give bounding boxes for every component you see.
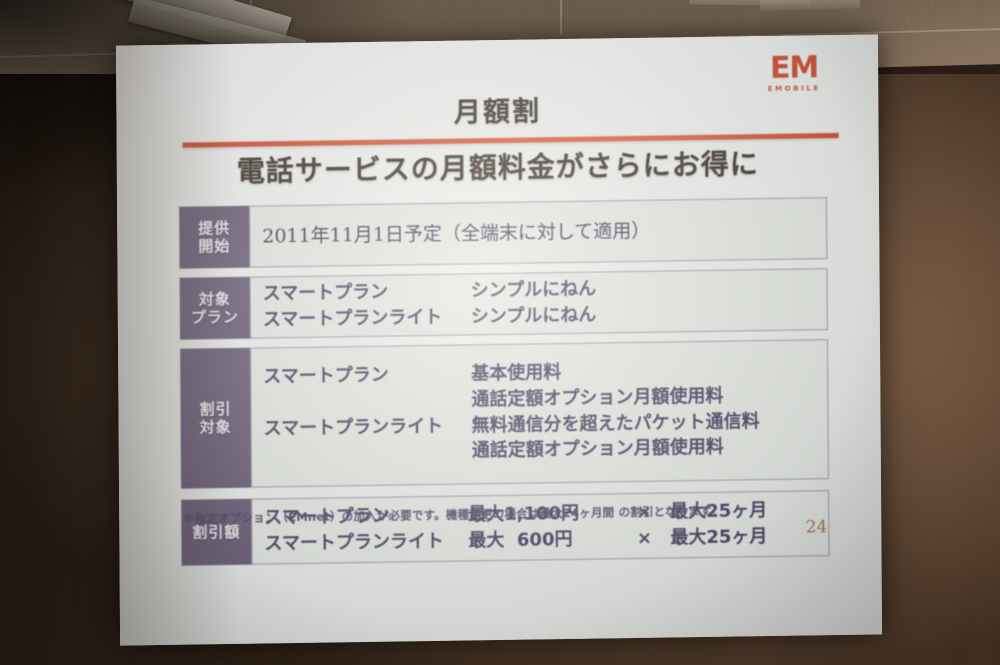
- slide-title: 月額割: [156, 85, 838, 134]
- projection-screen: EM EMOBILE 月額割 電話サービスの月額料金がさらにお得に 提供開始: [116, 34, 882, 645]
- table-row: 割引対象 スマートプラン 基本使用料 通話定額オプション月額使用料: [180, 339, 829, 489]
- row-content: スマートプラン 最大1,100円 × 最大25ヶ月 スマートプランライト 最大 …: [251, 490, 829, 565]
- plan-name: [264, 438, 472, 467]
- plan-name: スマートプラン: [263, 362, 471, 391]
- plan-name: スマートプランライト: [263, 304, 471, 333]
- cell-line: 2011年11月1日予定（全端末に対して適用）: [262, 217, 650, 250]
- table-row: 割引額 スマートプラン 最大1,100円 × 最大25ヶ月 スマートプランライト: [181, 490, 829, 566]
- row-label: 割引対象: [180, 348, 251, 489]
- table-row: 提供開始 2011年11月1日予定（全端末に対して適用）: [179, 197, 827, 269]
- row-label: 割引額: [181, 499, 251, 566]
- row-content: 2011年11月1日予定（全端末に対して適用）: [249, 197, 827, 268]
- multiply-icon: ×: [618, 525, 670, 551]
- plan-name: スマートプランライト: [264, 528, 468, 557]
- photo-of-projected-slide: EM EMOBILE 月額割 電話サービスの月額料金がさらにお得に 提供開始: [0, 0, 1000, 665]
- slide-subtitle: 電話サービスの月額料金がさらにお得に: [157, 141, 839, 191]
- ceiling-grid-line: [560, 0, 562, 34]
- slide: EM EMOBILE 月額割 電話サービスの月額料金がさらにお得に 提供開始: [156, 45, 842, 635]
- plan-name: スマートプラン: [263, 279, 471, 308]
- table-row: 対象プラン スマートプラン シンプルにねん スマートプランライト シンプルにねん: [180, 268, 828, 340]
- plan-name: スマートプランライト: [264, 413, 472, 442]
- row-label: 提供開始: [179, 206, 249, 269]
- page-number: 24: [806, 517, 828, 537]
- plan-detail: シンプルにねん: [471, 299, 827, 330]
- plan-name: [263, 387, 471, 416]
- plan-detail: 通話定額オプション月額使用料: [472, 433, 828, 464]
- row-content: スマートプラン シンプルにねん スマートプランライト シンプルにねん: [250, 268, 828, 339]
- row-label: 対象プラン: [180, 277, 250, 340]
- discount-amount: 最大 600円: [468, 526, 618, 554]
- row-content: スマートプラン 基本使用料 通話定額オプション月額使用料 スマートプランライト …: [250, 339, 829, 488]
- em-logo-mark: EM: [752, 53, 836, 84]
